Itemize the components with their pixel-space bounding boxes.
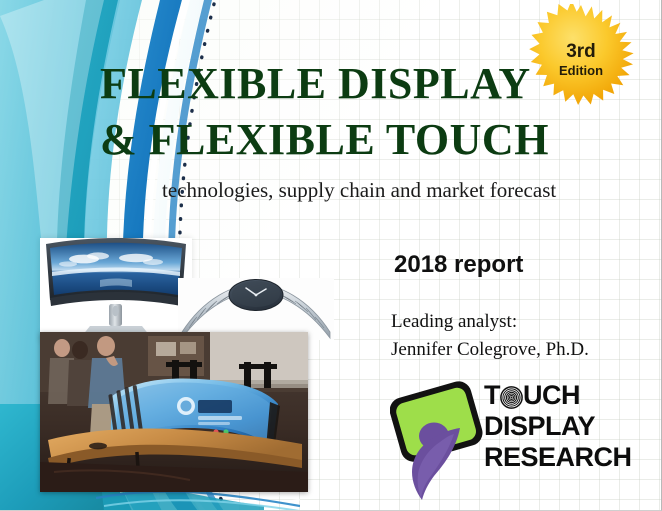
analyst-label: Leading analyst: <box>391 308 589 336</box>
company-logo: T UCH DISP <box>390 374 642 502</box>
logo-word-touch: T UCH <box>484 380 632 411</box>
cover-subtitle: technologies, supply chain and market fo… <box>100 176 620 204</box>
curved-monitor-image <box>40 238 192 342</box>
analyst-block: Leading analyst: Jennifer Colegrove, Ph.… <box>391 308 589 364</box>
flexible-smartwatch-image <box>178 278 334 340</box>
edition-badge-text: 3rd Edition <box>518 4 644 112</box>
touch-display-research-logomark <box>390 376 488 500</box>
title-line-2: & FLEXIBLE TOUCH <box>100 114 620 166</box>
analyst-name: Jennifer Colegrove, Ph.D. <box>391 336 589 364</box>
edition-badge: 3rd Edition <box>518 4 644 112</box>
tradeshow-flexible-display-photo <box>40 332 308 492</box>
report-year: 2018 report <box>394 251 523 279</box>
logo-touch-suffix: UCH <box>523 380 580 411</box>
logo-word-research: RESEARCH <box>484 442 632 473</box>
edition-badge-line-2: Edition <box>559 64 603 78</box>
logo-wordmark: T UCH DISP <box>484 380 632 473</box>
logo-word-display: DISPLAY <box>484 411 632 442</box>
logo-touch-prefix: T <box>484 380 500 411</box>
ripple-target-icon <box>500 385 523 408</box>
edition-badge-line-1: 3rd <box>566 42 596 62</box>
report-cover: FLEXIBLE DISPLAY & FLEXIBLE TOUCH techno… <box>0 0 662 511</box>
